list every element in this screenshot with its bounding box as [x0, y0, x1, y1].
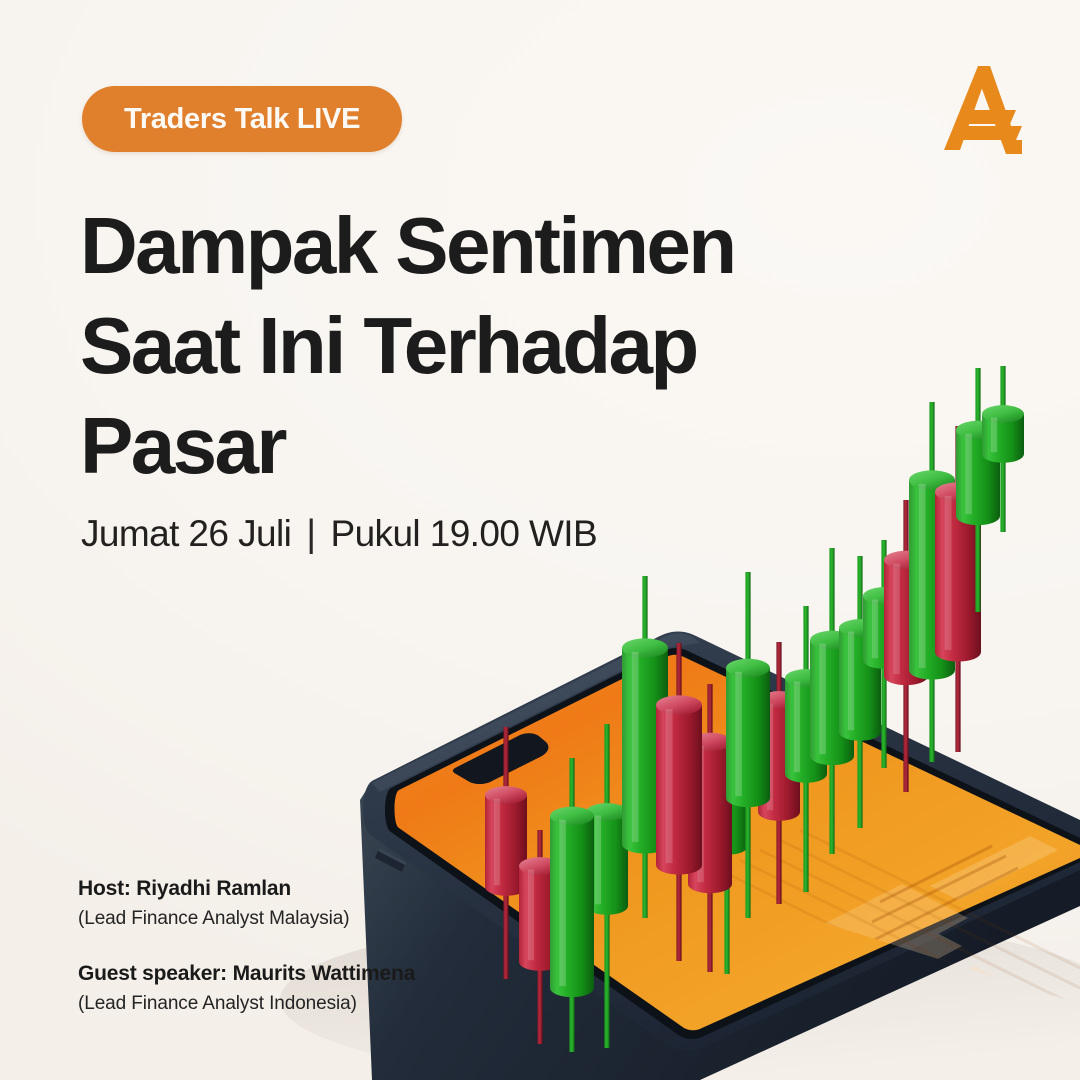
credit-host-role: (Lead Finance Analyst Malaysia) — [78, 904, 415, 933]
speaker-credits: Host: Riyadhi Ramlan (Lead Finance Analy… — [78, 874, 415, 1018]
credit-host-name: Host: Riyadhi Ramlan — [78, 874, 415, 904]
promo-poster: Traders Talk LIVE Dampak Sentimen Saat I… — [0, 0, 1080, 1080]
credit-host: Host: Riyadhi Ramlan (Lead Finance Analy… — [78, 874, 415, 933]
credit-guest-name: Guest speaker: Maurits Wattimena — [78, 959, 415, 989]
credit-guest-role: (Lead Finance Analyst Indonesia) — [78, 989, 415, 1018]
credit-guest: Guest speaker: Maurits Wattimena (Lead F… — [78, 959, 415, 1018]
